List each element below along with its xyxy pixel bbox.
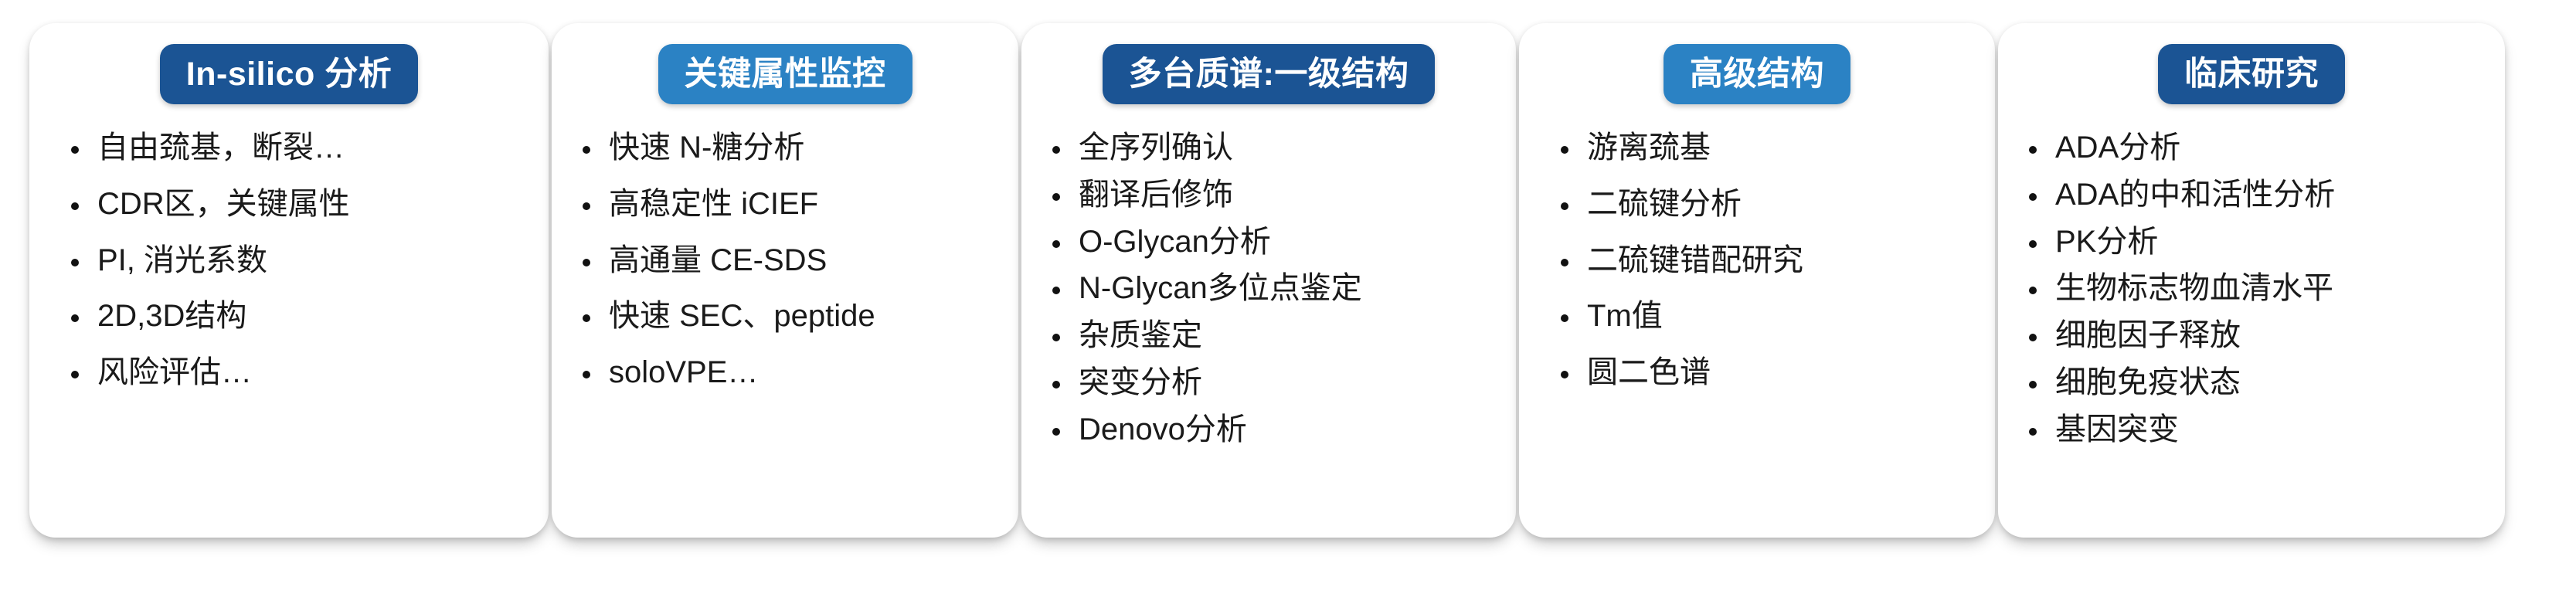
bullet-dot-icon [71, 146, 79, 154]
bullet-dot-icon [583, 259, 590, 266]
list-item: 突变分析 [1052, 365, 1516, 400]
list-item: 杂质鉴定 [1052, 318, 1516, 353]
bullet-dot-icon [2029, 193, 2037, 201]
card-bullet-list: 全序列确认 翻译后修饰 O-Glycan分析 N-Glycan多位点鉴定 杂质鉴… [1021, 104, 1516, 447]
list-item-label: 快速 SEC、peptide [609, 299, 875, 334]
card-title-pill[interactable]: 临床研究 [2158, 44, 2345, 104]
capability-card-clinical-research[interactable]: 临床研究 ADA分析 ADA的中和活性分析 PK分析 生物标志物血清水平 [1998, 23, 2505, 538]
list-item: 游离巯基 [1561, 131, 1995, 165]
list-item-label: Tm值 [1587, 299, 1663, 334]
list-item: 翻译后修饰 [1052, 178, 1516, 212]
list-item-label: CDR区，关键属性 [97, 187, 350, 222]
capability-card-mass-spec-primary-structure[interactable]: 多台质谱:一级结构 全序列确认 翻译后修饰 O-Glycan分析 N-Glyc [1021, 23, 1516, 538]
slide-canvas: In-silico 分析 自由巯基，断裂… CDR区，关键属性 PI, 消光系数 [0, 0, 2576, 604]
list-item-label: 基因突变 [2055, 412, 2179, 447]
list-item-label: N-Glycan多位点鉴定 [1079, 271, 1362, 306]
list-item-label: PK分析 [2055, 225, 2158, 260]
bullet-dot-icon [1052, 240, 1060, 248]
bullet-dot-icon [1052, 146, 1060, 154]
bullet-dot-icon [1561, 314, 1568, 322]
list-item-label: soloVPE… [609, 355, 758, 390]
bullet-dot-icon [71, 259, 79, 266]
bullet-dot-icon [583, 314, 590, 322]
list-item-label: O-Glycan分析 [1079, 225, 1271, 260]
bullet-dot-icon [71, 371, 79, 378]
list-item: PI, 消光系数 [71, 243, 549, 278]
list-item: 二硫键分析 [1561, 187, 1995, 222]
list-item: soloVPE… [583, 355, 1018, 390]
bullet-dot-icon [1052, 287, 1060, 294]
bullet-dot-icon [583, 202, 590, 210]
list-item: 细胞免疫状态 [2029, 365, 2505, 400]
list-item-label: ADA的中和活性分析 [2055, 178, 2335, 212]
list-item: ADA分析 [2029, 131, 2505, 165]
list-item: Tm值 [1561, 299, 1995, 334]
bullet-dot-icon [1561, 259, 1568, 266]
list-item: PK分析 [2029, 225, 2505, 260]
capability-card-critical-attribute-monitoring[interactable]: 关键属性监控 快速 N-糖分析 高稳定性 iCIEF 高通量 CE-SDS 快 [552, 23, 1018, 538]
list-item: 风险评估… [71, 355, 549, 390]
card-title-pill[interactable]: 高级结构 [1664, 44, 1850, 104]
list-item: 2D,3D结构 [71, 299, 549, 334]
list-item: 圆二色谱 [1561, 355, 1995, 390]
bullet-dot-icon [583, 371, 590, 378]
card-title-wrap: In-silico 分析 [29, 23, 549, 104]
list-item-label: 自由巯基，断裂… [97, 131, 345, 165]
card-title-wrap: 多台质谱:一级结构 [1021, 23, 1516, 104]
list-item-label: 二硫键错配研究 [1587, 243, 1803, 278]
list-item-label: 杂质鉴定 [1079, 318, 1202, 353]
bullet-dot-icon [2029, 381, 2037, 389]
list-item-label: 风险评估… [97, 355, 252, 390]
bullet-dot-icon [2029, 146, 2037, 154]
card-bullet-list: 快速 N-糖分析 高稳定性 iCIEF 高通量 CE-SDS 快速 SEC、pe… [552, 104, 1018, 390]
capability-card-higher-order-structure[interactable]: 高级结构 游离巯基 二硫键分析 二硫键错配研究 Tm值 [1519, 23, 1995, 538]
list-item-label: 全序列确认 [1079, 131, 1233, 165]
bullet-dot-icon [1561, 146, 1568, 154]
list-item: 高稳定性 iCIEF [583, 187, 1018, 222]
card-bullet-list: ADA分析 ADA的中和活性分析 PK分析 生物标志物血清水平 细胞因子释放 [1998, 104, 2505, 447]
card-title-pill[interactable]: 关键属性监控 [658, 44, 912, 104]
card-bullet-list: 游离巯基 二硫键分析 二硫键错配研究 Tm值 圆二色谱 [1519, 104, 1995, 390]
card-title-wrap: 关键属性监控 [552, 23, 1018, 104]
card-title-wrap: 临床研究 [1998, 23, 2505, 104]
list-item: 基因突变 [2029, 412, 2505, 447]
card-title-pill[interactable]: In-silico 分析 [160, 44, 418, 104]
list-item-label: 突变分析 [1079, 365, 1202, 400]
list-item: 细胞因子释放 [2029, 318, 2505, 353]
list-item-label: 二硫键分析 [1587, 187, 1742, 222]
list-item: 生物标志物血清水平 [2029, 271, 2505, 306]
list-item-label: 细胞因子释放 [2055, 318, 2241, 353]
card-title-wrap: 高级结构 [1519, 23, 1995, 104]
list-item-label: 高稳定性 iCIEF [609, 187, 818, 222]
list-item-label: Denovo分析 [1079, 412, 1247, 447]
list-item: ADA的中和活性分析 [2029, 178, 2505, 212]
bullet-dot-icon [2029, 287, 2037, 294]
bullet-dot-icon [1561, 202, 1568, 210]
list-item-label: 快速 N-糖分析 [609, 131, 804, 165]
list-item: CDR区，关键属性 [71, 187, 549, 222]
list-item-label: 圆二色谱 [1587, 355, 1711, 390]
list-item-label: ADA分析 [2055, 131, 2180, 165]
list-item: N-Glycan多位点鉴定 [1052, 271, 1516, 306]
list-item-label: 高通量 CE-SDS [609, 243, 827, 278]
bullet-dot-icon [2029, 334, 2037, 341]
list-item: Denovo分析 [1052, 412, 1516, 447]
capability-card-in-silico[interactable]: In-silico 分析 自由巯基，断裂… CDR区，关键属性 PI, 消光系数 [29, 23, 549, 538]
list-item-label: 翻译后修饰 [1079, 178, 1233, 212]
list-item-label: PI, 消光系数 [97, 243, 267, 278]
list-item: 快速 N-糖分析 [583, 131, 1018, 165]
bullet-dot-icon [71, 202, 79, 210]
bullet-dot-icon [2029, 240, 2037, 248]
list-item: 二硫键错配研究 [1561, 243, 1995, 278]
list-item: 快速 SEC、peptide [583, 299, 1018, 334]
list-item: 自由巯基，断裂… [71, 131, 549, 165]
list-item-label: 2D,3D结构 [97, 299, 246, 334]
bullet-dot-icon [1052, 334, 1060, 341]
list-item-label: 游离巯基 [1587, 131, 1711, 165]
bullet-dot-icon [583, 146, 590, 154]
capability-cards-row: In-silico 分析 自由巯基，断裂… CDR区，关键属性 PI, 消光系数 [29, 23, 2548, 548]
list-item-label: 生物标志物血清水平 [2055, 271, 2333, 306]
bullet-dot-icon [1052, 193, 1060, 201]
bullet-dot-icon [1052, 428, 1060, 436]
bullet-dot-icon [71, 314, 79, 322]
list-item: 全序列确认 [1052, 131, 1516, 165]
card-title-pill[interactable]: 多台质谱:一级结构 [1103, 44, 1436, 104]
list-item: O-Glycan分析 [1052, 225, 1516, 260]
bullet-dot-icon [1561, 371, 1568, 378]
list-item-label: 细胞免疫状态 [2055, 365, 2241, 400]
bullet-dot-icon [2029, 428, 2037, 436]
list-item: 高通量 CE-SDS [583, 243, 1018, 278]
card-bullet-list: 自由巯基，断裂… CDR区，关键属性 PI, 消光系数 2D,3D结构 风险评估… [29, 104, 549, 390]
bullet-dot-icon [1052, 381, 1060, 389]
